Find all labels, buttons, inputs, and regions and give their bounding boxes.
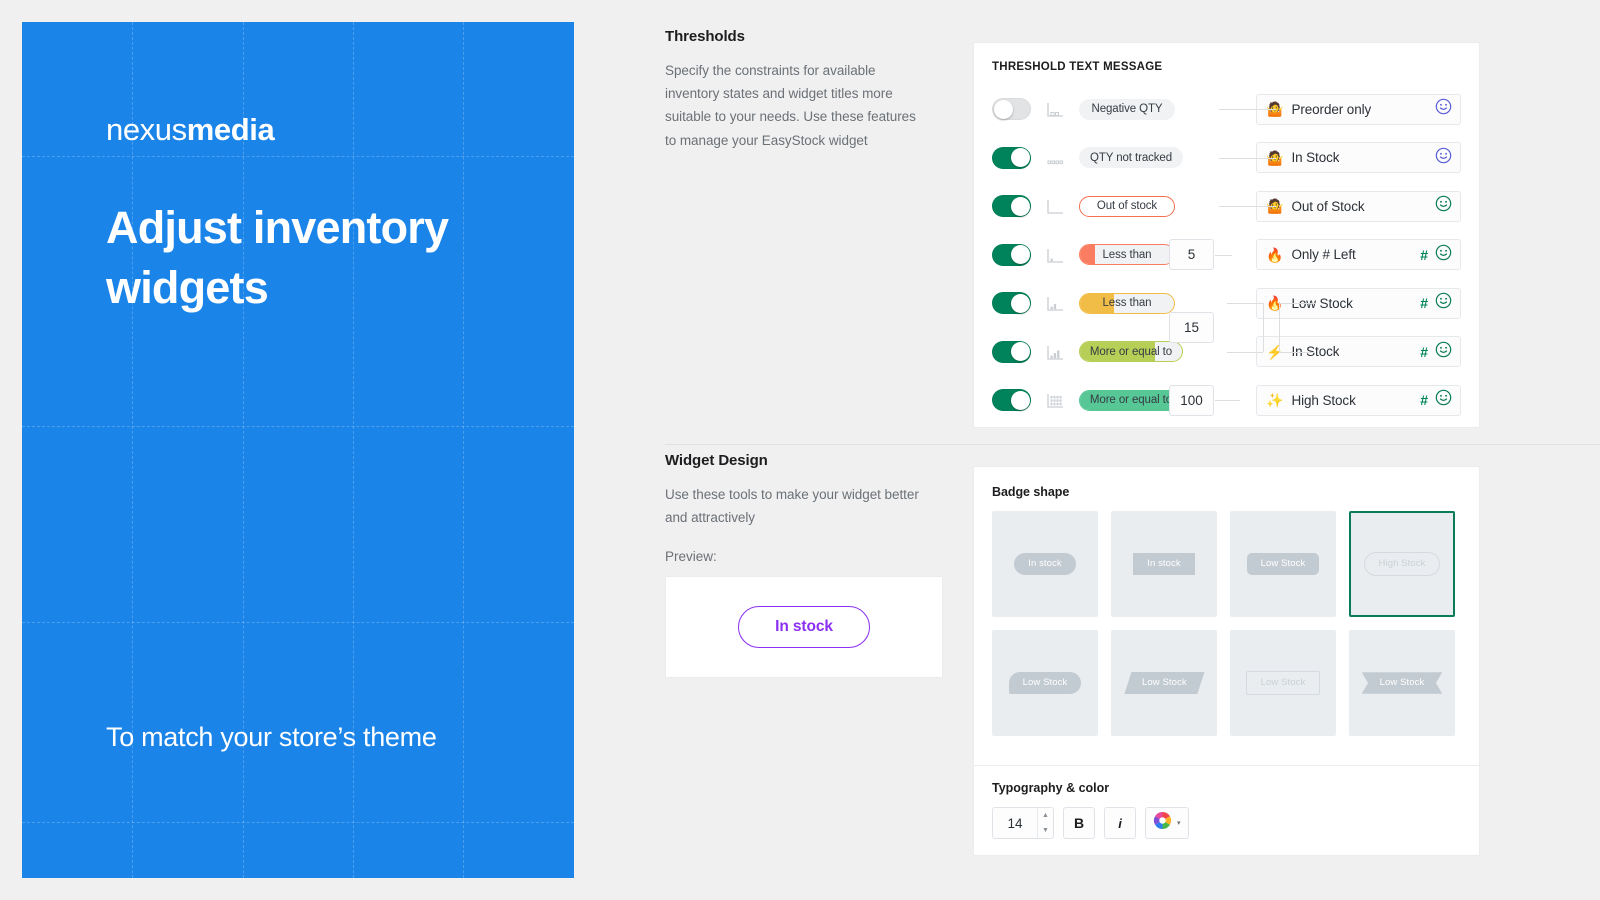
typography-toolbar: 14 ▲ ▼ B i xyxy=(992,807,1189,839)
bar-chart-5-icon xyxy=(1043,390,1069,410)
threshold-rows: Negative QTY🤷Preorder onlyQTY not tracke… xyxy=(974,85,1479,425)
font-size-arrows[interactable]: ▲ ▼ xyxy=(1037,808,1053,838)
shape-outlined-rectangle[interactable]: Low Stock xyxy=(1230,630,1336,736)
thresholds-title: Thresholds xyxy=(665,28,930,45)
connector-line xyxy=(1219,109,1276,110)
dots-icon xyxy=(1043,148,1069,168)
toggle-knob xyxy=(1011,245,1030,264)
badge-shape-preview: In stock xyxy=(1014,553,1076,575)
bar-chart-0-icon xyxy=(1043,99,1069,119)
threshold-value-input-5[interactable]: 5 xyxy=(1169,239,1214,270)
toggle-knob xyxy=(1011,391,1030,410)
emoji-picker-icon[interactable] xyxy=(1435,389,1452,411)
brand-logo: nexusmedia xyxy=(106,112,274,148)
threshold-value-input-15[interactable]: 15 xyxy=(1169,312,1214,343)
threshold-condition-pill[interactable]: Less than xyxy=(1079,244,1175,265)
design-card: Badge shape In stockIn stockLow StockHig… xyxy=(973,466,1480,856)
bar-chart-3-icon xyxy=(1043,293,1069,313)
emoji-picker-icon[interactable] xyxy=(1435,195,1452,217)
pill-label: Out of stock xyxy=(1080,197,1174,216)
chevron-down-icon: ▾ xyxy=(1177,819,1181,827)
badge-shape-grid: In stockIn stockLow StockHigh StockLow S… xyxy=(992,511,1455,736)
message-text[interactable]: Out of Stock xyxy=(1291,199,1364,214)
color-wheel-icon xyxy=(1153,811,1172,835)
message-text[interactable]: Preorder only xyxy=(1291,102,1371,117)
thresholds-description-column: Thresholds Specify the constraints for a… xyxy=(665,28,930,152)
pill-label: More or equal to xyxy=(1080,391,1182,410)
pill-label: Less than xyxy=(1080,245,1174,264)
badge-shape-preview: Low Stock xyxy=(1247,553,1320,575)
shape-rectangle[interactable]: In stock xyxy=(1111,511,1217,617)
threshold-toggle[interactable] xyxy=(992,98,1031,120)
font-size-decrement-icon[interactable]: ▼ xyxy=(1038,823,1053,838)
italic-button[interactable]: i xyxy=(1104,807,1136,839)
threshold-condition-pill[interactable]: More or equal to xyxy=(1079,341,1183,362)
preview-badge: In stock xyxy=(738,606,870,648)
pill-label: QTY not tracked xyxy=(1080,148,1182,167)
connector-line xyxy=(1215,400,1228,401)
hero-subtitle: To match your store’s theme xyxy=(106,714,506,760)
bar-chart-1-icon xyxy=(1043,196,1069,216)
typography-label: Typography & color xyxy=(992,781,1109,795)
threshold-condition-pill[interactable]: More or equal to xyxy=(1079,390,1183,411)
widget-design-description: Use these tools to make your widget bett… xyxy=(665,483,930,529)
message-emoji: 🔥 xyxy=(1266,248,1283,262)
hash-token-button[interactable]: # xyxy=(1420,295,1428,311)
font-size-increment-icon[interactable]: ▲ xyxy=(1038,808,1053,823)
threshold-toggle[interactable] xyxy=(992,147,1031,169)
connector-line xyxy=(1263,328,1264,352)
connector-line xyxy=(1227,400,1240,401)
connector-line xyxy=(1219,158,1276,159)
bar-chart-4-icon xyxy=(1043,342,1069,362)
connector-line xyxy=(1227,303,1263,304)
connector-line xyxy=(1215,255,1228,256)
threshold-message-input[interactable]: 🤷Out of Stock xyxy=(1256,191,1461,222)
threshold-condition-pill[interactable]: Less than xyxy=(1079,293,1175,314)
font-size-value[interactable]: 14 xyxy=(993,816,1037,831)
pill-label: More or equal to xyxy=(1080,342,1182,361)
design-description-column: Widget Design Use these tools to make yo… xyxy=(665,452,930,678)
bar-chart-2-icon xyxy=(1043,245,1069,265)
connector-line xyxy=(1279,352,1315,353)
content-area: Thresholds Specify the constraints for a… xyxy=(640,0,1600,900)
bold-button[interactable]: B xyxy=(1063,807,1095,839)
color-picker-button[interactable]: ▾ xyxy=(1145,807,1189,839)
threshold-toggle[interactable] xyxy=(992,244,1031,266)
threshold-message-input[interactable]: ✨High Stock# xyxy=(1256,385,1461,416)
threshold-condition-pill[interactable]: Negative QTY xyxy=(1079,99,1175,120)
connector-line xyxy=(1219,206,1276,207)
toggle-knob xyxy=(1011,148,1030,167)
emoji-picker-icon[interactable] xyxy=(1435,341,1452,363)
shape-rounded-rectangle[interactable]: Low Stock xyxy=(1230,511,1336,617)
hero-panel: nexusmedia Adjust inventory widgets To m… xyxy=(22,22,574,878)
connector-line xyxy=(1279,328,1280,352)
threshold-value-input-100[interactable]: 100 xyxy=(1169,385,1214,416)
brand-logo-bold: media xyxy=(187,112,275,147)
emoji-picker-icon[interactable] xyxy=(1435,98,1452,120)
brand-logo-light: nexus xyxy=(106,112,187,147)
font-size-stepper[interactable]: 14 ▲ ▼ xyxy=(992,807,1054,839)
threshold-message-input[interactable]: 🤷Preorder only xyxy=(1256,94,1461,125)
toggle-knob xyxy=(1011,197,1030,216)
app-root: nexusmedia Adjust inventory widgets To m… xyxy=(0,0,1600,900)
badge-shape-preview: Low Stock xyxy=(1009,672,1082,694)
pill-label: Negative QTY xyxy=(1080,100,1174,119)
connector-line xyxy=(1279,303,1315,304)
thresholds-description: Specify the constraints for available in… xyxy=(665,59,930,152)
preview-box: In stock xyxy=(665,576,943,678)
toggle-knob xyxy=(1011,342,1030,361)
emoji-picker-icon[interactable] xyxy=(1435,292,1452,314)
badge-shape-header: Badge shape xyxy=(974,467,1479,499)
threshold-toggle[interactable] xyxy=(992,292,1031,314)
threshold-condition-pill[interactable]: QTY not tracked xyxy=(1079,147,1183,168)
connector-line xyxy=(1227,352,1263,353)
emoji-picker-icon[interactable] xyxy=(1435,147,1452,169)
message-text[interactable]: High Stock xyxy=(1291,393,1355,408)
badge-shape-preview: Low Stock xyxy=(1246,671,1321,695)
toggle-knob xyxy=(1011,294,1030,313)
threshold-text-message-header: THRESHOLD TEXT MESSAGE xyxy=(974,43,1479,73)
typography-divider xyxy=(974,765,1479,766)
badge-shape-preview: Low Stock xyxy=(1362,672,1443,694)
threshold-toggle[interactable] xyxy=(992,389,1031,411)
threshold-message-input[interactable]: 🤷In Stock xyxy=(1256,142,1461,173)
badge-shape-preview: In stock xyxy=(1133,553,1195,575)
section-divider xyxy=(665,444,1600,445)
shape-parallelogram[interactable]: Low Stock xyxy=(1111,630,1217,736)
widget-design-title: Widget Design xyxy=(665,452,930,469)
shape-pill[interactable]: In stock xyxy=(992,511,1098,617)
preview-label: Preview: xyxy=(665,549,930,564)
badge-shape-preview: High Stock xyxy=(1364,552,1441,576)
shape-speech-bubble[interactable]: Low Stock xyxy=(992,630,1098,736)
shape-outlined-pill[interactable]: High Stock xyxy=(1349,511,1455,617)
thresholds-card: THRESHOLD TEXT MESSAGE Negative QTY🤷Preo… xyxy=(973,42,1480,428)
connector-line xyxy=(1279,303,1280,327)
hero-title: Adjust inventory widgets xyxy=(106,198,526,318)
message-text[interactable]: Only # Left xyxy=(1291,247,1355,262)
hash-token-button[interactable]: # xyxy=(1420,247,1428,263)
threshold-message-input[interactable]: 🔥Only # Left# xyxy=(1256,239,1461,270)
connector-line xyxy=(1263,303,1264,327)
threshold-condition-pill[interactable]: Out of stock xyxy=(1079,196,1175,217)
toggle-knob xyxy=(994,100,1013,119)
emoji-picker-icon[interactable] xyxy=(1435,244,1452,266)
message-text[interactable]: In Stock xyxy=(1291,150,1339,165)
message-emoji: ✨ xyxy=(1266,393,1283,407)
badge-shape-preview: Low Stock xyxy=(1124,672,1204,694)
hash-token-button[interactable]: # xyxy=(1420,344,1428,360)
pill-label: Less than xyxy=(1080,294,1174,313)
threshold-toggle[interactable] xyxy=(992,195,1031,217)
hash-token-button[interactable]: # xyxy=(1420,392,1428,408)
threshold-toggle[interactable] xyxy=(992,341,1031,363)
shape-ribbon[interactable]: Low Stock xyxy=(1349,630,1455,736)
